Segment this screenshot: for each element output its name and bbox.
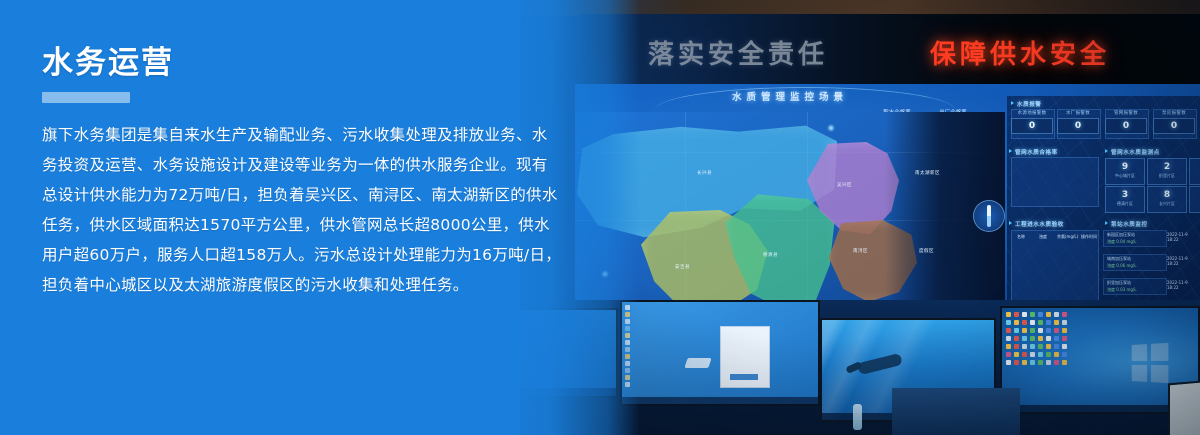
- app-icon[interactable]: [1022, 336, 1027, 341]
- pdf-icon[interactable]: [1022, 320, 1027, 325]
- map-region-label: 安吉县: [675, 264, 690, 270]
- pdf-icon[interactable]: [1014, 360, 1019, 365]
- excel-icon[interactable]: [1046, 352, 1051, 357]
- water-operations-banner: 落实安全责任 保障供水安全 水质管理监控场景 今日取水量 (吨) 今日供水量 (…: [0, 0, 1200, 435]
- folder-icon[interactable]: [1062, 328, 1067, 333]
- alarm-stat: 泵房报警数 0: [1153, 110, 1195, 134]
- pdf-icon[interactable]: [1014, 344, 1019, 349]
- folder-icon[interactable]: [1046, 312, 1051, 317]
- station-row[interactable]: 织里加压泵站 浊度 0.03 mg/L: [1103, 278, 1167, 295]
- map-side-label: 南太湖新区: [915, 170, 940, 176]
- file-icon[interactable]: [1054, 312, 1059, 317]
- monitor-cell[interactable]: 7 安吉片区: [1189, 186, 1200, 213]
- acceptance-col-0: 名称: [1017, 234, 1025, 240]
- station-panel-title: 泵站水质监控: [1111, 220, 1148, 228]
- alarm-panel-title: 水质报警: [1017, 100, 1041, 108]
- app-icon[interactable]: [1062, 352, 1067, 357]
- map-region-label: 南浔区: [853, 248, 868, 254]
- station-row[interactable]: 新园区加压泵站 浊度 0.04 mg/L: [1103, 230, 1167, 247]
- description-line: 务投资及运营、水务设施设计及建设等业务为一体的供水服务企业。现有: [42, 150, 572, 180]
- map-region-label: 吴兴区: [837, 182, 852, 188]
- app-icon[interactable]: [1022, 352, 1027, 357]
- app-icon[interactable]: [1014, 336, 1019, 341]
- app-icon[interactable]: [1062, 336, 1067, 341]
- acceptance-col-3: 操作时间: [1081, 234, 1097, 240]
- taskbar[interactable]: [622, 397, 818, 404]
- description-line: 总设计供水能力为72万吨/日，担负着吴兴区、南浔区、南太湖新区的供水: [42, 180, 572, 210]
- app-icon[interactable]: [1054, 344, 1059, 349]
- app-icon[interactable]: [1054, 336, 1059, 341]
- alarm-stat: 管网报警数 0: [1105, 110, 1147, 134]
- excel-icon[interactable]: [1030, 328, 1035, 333]
- monitor-cell[interactable]: 6 南浔片区: [1189, 158, 1200, 185]
- pass-rate-panel-title: 管网水质合格率: [1015, 148, 1058, 156]
- app-icon[interactable]: [1054, 360, 1059, 365]
- windows-logo-icon: [1132, 343, 1169, 383]
- alarm-stat: 水源地报警数 0: [1011, 110, 1053, 134]
- file-icon[interactable]: [1006, 336, 1011, 341]
- station-date: 2022-11-9 18:22: [1167, 256, 1200, 266]
- folder-icon[interactable]: [1062, 360, 1067, 365]
- map-region-label: 德清县: [763, 252, 778, 258]
- file-icon[interactable]: [1038, 328, 1043, 333]
- monitor-cell[interactable]: 8 长兴片区: [1147, 186, 1187, 213]
- excel-icon[interactable]: [1038, 360, 1043, 365]
- page-title: 水务运营: [42, 46, 572, 80]
- app-icon[interactable]: [1030, 344, 1035, 349]
- app-icon[interactable]: [1014, 328, 1019, 333]
- file-icon[interactable]: [1046, 336, 1051, 341]
- file-icon[interactable]: [1030, 352, 1035, 357]
- monitor-center[interactable]: [620, 300, 820, 406]
- file-icon[interactable]: [1030, 320, 1035, 325]
- alarm-stat: 水厂报警数 0: [1057, 110, 1099, 134]
- map-region-label: 长兴县: [697, 170, 712, 176]
- logo-mark: [684, 358, 711, 368]
- station-row[interactable]: 城南加压泵站 浊度 0.06 mg/L: [1103, 254, 1167, 271]
- video-wall: 水质管理监控场景 今日取水量 (吨) 今日供水量 (吨) 昨日取水量 (吨) 今…: [575, 84, 1200, 314]
- pass-rate-chart[interactable]: [1011, 157, 1099, 207]
- windows-desktop-icon-grid[interactable]: [1006, 312, 1067, 365]
- app-icon[interactable]: [1030, 360, 1035, 365]
- app-icon[interactable]: [1054, 328, 1059, 333]
- map-pin[interactable]: [827, 124, 835, 132]
- dashboard-column: 水质报警 水源地报警数 0 水厂报警数 0 管网报警数 0 泵: [1007, 96, 1200, 314]
- app-icon[interactable]: [1006, 328, 1011, 333]
- description-line: 用户超60万户，服务人口超158万人。污水总设计处理能力为16万吨/日，: [42, 240, 572, 270]
- app-icon[interactable]: [1062, 312, 1067, 317]
- station-date: 2022-11-9 18:22: [1167, 232, 1200, 242]
- led-slogan-left: 落实安全责任: [648, 34, 828, 71]
- acceptance-col-1: 浊度: [1039, 234, 1047, 240]
- excel-icon[interactable]: [1038, 320, 1043, 325]
- acceptance-panel-title: 工程进水水质验收: [1015, 220, 1064, 228]
- app-icon[interactable]: [1046, 320, 1051, 325]
- excel-icon[interactable]: [1038, 344, 1043, 349]
- folder-icon[interactable]: [1014, 320, 1019, 325]
- folder-icon[interactable]: [1022, 360, 1027, 365]
- excel-icon[interactable]: [1030, 336, 1035, 341]
- app-icon[interactable]: [1014, 312, 1019, 317]
- desk-console: [892, 388, 1020, 435]
- led-slogan-right: 保障供水安全: [930, 34, 1110, 71]
- map-side-label: 度假区: [919, 248, 934, 254]
- folder-icon[interactable]: [1038, 336, 1043, 341]
- description-text: 旗下水务集团是集自来水生产及输配业务、污水收集处理及排放业务、水 务投资及运营、…: [42, 120, 572, 300]
- description-line: 旗下水务集团是集自来水生产及输配业务、污水收集处理及排放业务、水: [42, 120, 572, 150]
- monitor-cell[interactable]: 9 中心城片区: [1105, 158, 1145, 185]
- folder-icon[interactable]: [1006, 312, 1011, 317]
- station-date: 2022-11-9 18:22: [1167, 280, 1200, 290]
- monitor-cell[interactable]: 3 德清片区: [1105, 186, 1145, 213]
- laptop-screen[interactable]: [1168, 373, 1200, 435]
- file-icon[interactable]: [1046, 360, 1051, 365]
- compass-icon: [973, 200, 1005, 232]
- excel-icon[interactable]: [1030, 312, 1035, 317]
- folder-icon[interactable]: [1054, 352, 1059, 357]
- file-icon[interactable]: [1022, 312, 1027, 317]
- text-panel: 水务运营 旗下水务集团是集自来水生产及输配业务、污水收集处理及排放业务、水 务投…: [0, 0, 640, 435]
- folder-icon[interactable]: [1046, 344, 1051, 349]
- compass-needle: [987, 205, 991, 227]
- file-icon[interactable]: [1022, 344, 1027, 349]
- file-icon[interactable]: [1062, 320, 1067, 325]
- title-underline: [42, 92, 130, 103]
- monitor-cell[interactable]: 2 织里片区: [1147, 158, 1187, 185]
- acceptance-col-2: 余氯(mg/L): [1057, 234, 1078, 240]
- folder-icon[interactable]: [1006, 344, 1011, 349]
- dialog-button[interactable]: [730, 374, 758, 380]
- app-icon[interactable]: [1046, 328, 1051, 333]
- app-icon[interactable]: [1006, 320, 1011, 325]
- file-icon[interactable]: [1006, 360, 1011, 365]
- folder-icon[interactable]: [1054, 320, 1059, 325]
- description-line: 担负着中心城区以及太湖旅游度假区的污水收集和处理任务。: [42, 270, 572, 300]
- panel-content: 水务运营 旗下水务集团是集自来水生产及输配业务、污水收集处理及排放业务、水 务投…: [42, 46, 572, 300]
- file-icon[interactable]: [1062, 344, 1067, 349]
- app-icon[interactable]: [1038, 352, 1043, 357]
- water-bottle: [853, 404, 862, 430]
- monitor-panel-title: 管网水水质监测点: [1111, 148, 1160, 156]
- folder-icon[interactable]: [1022, 328, 1027, 333]
- app-icon[interactable]: [1038, 312, 1043, 317]
- description-line: 任务，供水区域面积达1570平方公里，供水管网总长超8000公里，供水: [42, 210, 572, 240]
- app-icon[interactable]: [1006, 352, 1011, 357]
- folder-icon[interactable]: [1014, 352, 1019, 357]
